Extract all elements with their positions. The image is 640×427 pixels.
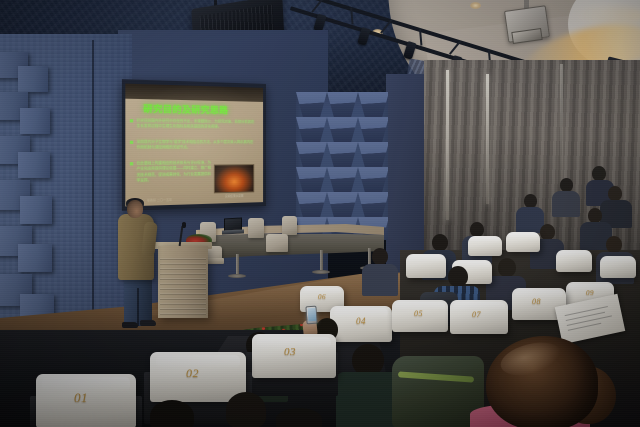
cove-light-glow-secondary: [566, 6, 640, 26]
microphone-icon: [182, 222, 186, 228]
diffuser-block: [20, 196, 52, 224]
audience-member: [498, 258, 516, 277]
chair-cover: [468, 236, 502, 256]
table-leg: [320, 250, 323, 272]
diffuser-block: [18, 244, 52, 272]
diffuser-block: [18, 66, 48, 92]
presenter-head: [127, 200, 143, 218]
chair-number: 07: [472, 310, 481, 319]
slide-image-caption: 实验结果示意图: [214, 193, 254, 198]
chair-number: 09: [586, 289, 594, 297]
wall-light-strip: [560, 64, 563, 184]
audience-member: [448, 266, 468, 287]
table-foot: [228, 274, 246, 278]
chair-number: 06: [318, 293, 326, 301]
projection-screen: 研究目的及研究思路 针对目前国内外研究中存在的不足，本课题拟以…为研究对象，系统…: [122, 79, 266, 211]
podium-slats: [160, 258, 206, 316]
wall-seam: [92, 40, 94, 340]
audience-member: [608, 186, 622, 201]
slide-surface: 研究目的及研究思路 针对目前国内外研究中存在的不足，本课题拟以…为研究对象，系统…: [125, 84, 263, 207]
audience-member: [606, 236, 622, 253]
screen-header-band: [125, 84, 263, 102]
audience-member-foreground: [276, 408, 322, 427]
chair-number: 03: [284, 346, 296, 358]
slide-bullet: 在此基础上构建相应的技术体系与评价标准，为产业化应用提供理论依据——同时建立、推…: [137, 160, 213, 184]
audience-member: [540, 224, 555, 240]
presenter-shoe: [122, 322, 138, 328]
audience-member-foreground: [150, 400, 194, 427]
chair-cover: [556, 250, 592, 272]
table-leg: [236, 254, 239, 276]
chair-number: 08: [532, 297, 541, 306]
chair-number: 04: [356, 316, 366, 326]
audience-member: [432, 234, 448, 251]
audience-member: [372, 248, 388, 265]
audience-member: [592, 166, 606, 181]
audience-member-foreground: [226, 392, 266, 427]
panel-table-front: [196, 234, 384, 258]
chair-number: 02: [186, 366, 199, 381]
wall-light-strip: [486, 74, 489, 204]
wall-light-strip: [446, 70, 449, 220]
audience-member: [362, 264, 398, 296]
acoustic-pyramid-panel: [296, 92, 388, 240]
diffuser-block: [18, 152, 50, 178]
slide-title: 研究目的及研究思路: [143, 102, 253, 117]
presenter-shoe: [140, 320, 156, 326]
diffuser-block: [20, 108, 50, 134]
chair-cover: [406, 254, 446, 278]
chair-number: 05: [414, 309, 423, 318]
chair-cover: [600, 256, 636, 278]
slide-bullet: 采用现代分子生物学与“组学”技术相结合的方法，从多个层次深入揭示其内在作用机制与…: [137, 140, 256, 152]
smartphone-screen[interactable]: [307, 308, 316, 322]
audience-member: [560, 178, 573, 192]
downlight-icon: [470, 2, 481, 9]
audience-member: [588, 208, 602, 223]
slide-bullet: 针对目前国内外研究中存在的不足，本课题拟以…为研究对象，系统分析其在生长发育过程…: [137, 118, 256, 131]
audience-member: [552, 191, 580, 217]
audience-member: [470, 222, 484, 237]
chair-number: 01: [74, 390, 88, 406]
stage-chair: [282, 216, 297, 235]
chair-cover: [506, 232, 540, 252]
audience-member: [524, 194, 537, 208]
auditorium-photo: 研究目的及研究思路 针对目前国内外研究中存在的不足，本课题拟以…为研究对象，系统…: [0, 0, 640, 427]
stage-chair: [248, 218, 264, 238]
table-foot: [312, 270, 330, 274]
slide-image: [214, 164, 254, 193]
presenter-leg-split: [137, 288, 139, 326]
stage-chair: [266, 234, 288, 252]
